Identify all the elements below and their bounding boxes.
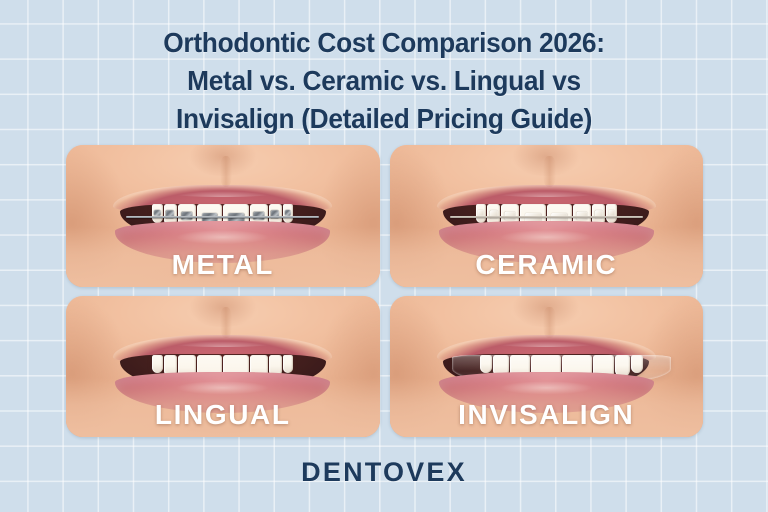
comparison-card-metal[interactable]: METAL: [66, 145, 380, 287]
title-line-2: Metal vs. Ceramic vs. Lingual vs: [55, 62, 712, 100]
metal-bracket-icon: [285, 210, 291, 216]
tooth: [631, 355, 643, 373]
mouth: [113, 335, 332, 409]
tooth: [476, 204, 486, 222]
mouth: [437, 185, 656, 259]
ceramic-bracket-icon: [478, 210, 484, 216]
comparison-card-lingual[interactable]: LINGUAL: [66, 296, 380, 438]
title-line-1: Orthodontic Cost Comparison 2026:: [55, 24, 712, 62]
comparison-card-ceramic[interactable]: CERAMIC: [390, 145, 704, 287]
title-line-3: Invisalign (Detailed Pricing Guide): [55, 100, 712, 138]
comparison-card-grid: METAL CERAMIC: [66, 145, 703, 437]
ceramic-bracket-icon: [608, 210, 614, 216]
brand-wordmark: DENTOVEX: [0, 457, 768, 488]
card-label-ceramic: CERAMIC: [390, 251, 704, 279]
tooth: [152, 355, 162, 373]
metal-bracket-icon: [154, 210, 160, 216]
card-label-lingual: LINGUAL: [66, 401, 380, 429]
tooth: [480, 355, 492, 373]
tooth: [606, 204, 616, 222]
mouth: [437, 335, 656, 409]
card-label-metal: METAL: [66, 251, 380, 279]
page-title: Orthodontic Cost Comparison 2026: Metal …: [0, 24, 768, 138]
tooth: [152, 204, 162, 222]
comparison-card-invisalign[interactable]: INVISALIGN: [390, 296, 704, 438]
archwire: [450, 216, 643, 218]
tooth: [283, 204, 293, 222]
archwire: [126, 216, 319, 218]
card-label-invisalign: INVISALIGN: [390, 401, 704, 429]
mouth: [113, 185, 332, 259]
tooth: [283, 355, 293, 373]
